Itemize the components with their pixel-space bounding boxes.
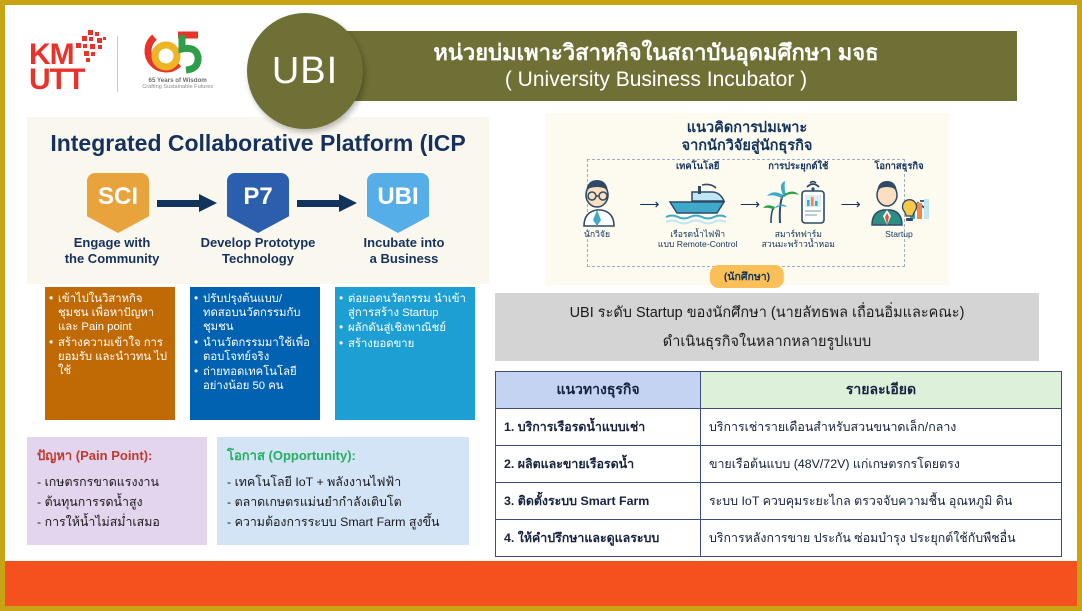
- anniversary-caption-main: 65 Years of Wisdom: [130, 77, 226, 84]
- arrow-right-icon-2: [297, 194, 359, 212]
- detail-bullet: ปรับปรุงต้นแบบ/ทดสอบนวัตกรรมกับชุมชน: [194, 292, 314, 335]
- startup-banner-line-1: UBI ระดับ Startup ของนักศึกษา (นายลัทธพล…: [570, 301, 965, 324]
- detail-bullet: ถ่ายทอดเทคโนโลยีอย่างน้อย 50 คน: [194, 365, 314, 393]
- pain-point-item: - การให้น้ำไม่สม่ำเสมอ: [37, 512, 197, 532]
- header-title-bar: หน่วยบ่มเพาะวิสาหกิจในสถาบันอุดมศึกษา มจ…: [295, 31, 1017, 101]
- smartfarm-icon: [758, 173, 838, 229]
- startup-banner: UBI ระดับ Startup ของนักศึกษา (นายลัทธพล…: [495, 293, 1039, 361]
- table-header-row: แนวทางธุรกิจ รายละเอียด: [496, 372, 1062, 409]
- incubation-flow: นักวิจัย ⟶ เทคโนโลยี เรือรดน้ำไฟฟ้า: [557, 159, 939, 269]
- icp-captions: Engage with the Community Develop Protot…: [27, 235, 489, 267]
- flow-node-application: การประยุกต์ใช้: [758, 159, 838, 249]
- table-cell-detail: ขายเรือต้นแบบ (48V/72V) แก่เกษตรกรโดยตรง: [701, 446, 1062, 483]
- arrow-right-icon-b: ⟶: [740, 199, 756, 209]
- business-model-table: แนวทางธุรกิจ รายละเอียด 1. บริการเรือรดน…: [495, 371, 1062, 557]
- detail-bullet: สร้างยอดขาย: [339, 337, 469, 351]
- incubation-concept-card: แนวคิดการบ่มเพาะ จากนักวิจัยสู่นักธุรกิจ: [545, 113, 949, 285]
- opportunity-item: - ความต้องการระบบ Smart Farm สูงขึ้น: [227, 512, 459, 532]
- opportunity-item: - เทคโนโลยี IoT + พลังงานไฟฟ้า: [227, 472, 459, 492]
- student-badge: (นักศึกษา): [710, 265, 784, 288]
- table-header-approach: แนวทางธุรกิจ: [496, 372, 701, 409]
- icp-card: Integrated Collaborative Platform (ICP S…: [27, 117, 489, 284]
- table-cell-approach: 1. บริการเรือรดน้ำแบบเช่า: [496, 409, 701, 446]
- arrow-right-icon-c: ⟶: [841, 199, 857, 209]
- icp-flow: SCI P7 UBI: [27, 173, 489, 233]
- kmutt-line-2: UTT: [29, 67, 84, 92]
- arrow-right-icon-a: ⟶: [639, 199, 655, 209]
- opportunity-card: โอกาส (Opportunity): - เทคโนโลยี IoT + พ…: [217, 437, 469, 545]
- anniversary-caption: 65 Years of Wisdom Crafting Sustainable …: [130, 77, 226, 92]
- pain-point-item: - เกษตรกรขาดแรงงาน: [37, 472, 197, 492]
- detail-box-prototype: ปรับปรุงต้นแบบ/ทดสอบนวัตกรรมกับชุมชน นำน…: [190, 287, 320, 420]
- table-cell-detail: ระบบ IoT ควบคุมระยะไกล ตรวจจับความชื้น อ…: [701, 483, 1062, 520]
- institution-logo: KM UTT: [29, 23, 219, 105]
- ubi-badge-circle: UBI: [247, 13, 363, 129]
- slide-canvas: KM UTT: [0, 0, 1082, 611]
- opportunity-heading: โอกาส (Opportunity):: [227, 445, 459, 466]
- table-row: 4. ให้คำปรึกษาและดูแลระบบ บริการหลังการข…: [496, 520, 1062, 557]
- logo-divider: [117, 36, 118, 92]
- incubation-concept-title: แนวคิดการบ่มเพาะ จากนักวิจัยสู่นักธุรกิจ: [545, 119, 949, 155]
- table-row: 1. บริการเรือรดน้ำแบบเช่า บริการเช่ารายเ…: [496, 409, 1062, 446]
- arrow-right-icon-1: [157, 194, 219, 212]
- flow-node-label: นักวิจัย: [557, 229, 637, 239]
- icp-caption-sci: Engage with the Community: [39, 235, 185, 267]
- pain-point-item: - ต้นทุนการรดน้ำสูง: [37, 492, 197, 512]
- detail-bullet: เข้าไปในวิสาหกิจชุมชน เพื่อหาปัญหาและ Pa…: [49, 292, 169, 335]
- table-cell-approach: 2. ผลิตและขายเรือรดน้ำ: [496, 446, 701, 483]
- icp-caption-p7: Develop Prototype Technology: [185, 235, 331, 267]
- table-header-details: รายละเอียด: [701, 372, 1062, 409]
- detail-bullet: สร้างความเข้าใจ การยอมรับ และนำวทน ไปใช้: [49, 336, 169, 379]
- icp-badge-sci: SCI: [87, 173, 149, 233]
- icp-title: Integrated Collaborative Platform (ICP: [27, 130, 489, 157]
- table-cell-approach: 3. ติดตั้งระบบ Smart Farm: [496, 483, 701, 520]
- icp-caption-ubi: Incubate into a Business: [331, 235, 477, 267]
- boat-icon: [658, 173, 738, 229]
- icp-badge-ubi: UBI: [367, 173, 429, 233]
- icp-detail-boxes: เข้าไปในวิสาหกิจชุมชน เพื่อหาปัญหาและ Pa…: [45, 287, 475, 420]
- kmutt-pixel-cross-icon: [73, 30, 109, 64]
- pain-point-heading: ปัญหา (Pain Point):: [37, 445, 197, 466]
- kmutt-logo-icon: KM UTT: [29, 28, 109, 100]
- table-row: 2. ผลิตและขายเรือรดน้ำ ขายเรือต้นแบบ (48…: [496, 446, 1062, 483]
- pain-point-card: ปัญหา (Pain Point): - เกษตรกรขาดแรงงาน -…: [27, 437, 207, 545]
- icp-badge-p7: P7: [227, 173, 289, 233]
- detail-box-incubate: ต่อยอดนวัตกรรม นำเข้าสู่การสร้าง Startup…: [335, 287, 475, 420]
- detail-bullet: นำนวัตกรรมมาใช้เพื่อตอบโจทย์จริง: [194, 336, 314, 364]
- businessman-icon: [859, 173, 939, 229]
- anniversary-caption-sub: Crafting Sustainable Futures: [130, 84, 226, 91]
- flow-node-sublabel: สวนมะพร้าวน้ำหอม: [758, 239, 838, 249]
- bottom-accent-band: [5, 561, 1077, 606]
- table-row: 3. ติดตั้งระบบ Smart Farm ระบบ IoT ควบคุ…: [496, 483, 1062, 520]
- flow-node-researcher: นักวิจัย: [557, 159, 637, 239]
- researcher-icon: [557, 173, 637, 229]
- anniversary-65-logo-icon: 65 Years of Wisdom Crafting Sustainable …: [126, 27, 219, 101]
- anniversary-65-mark-icon: [136, 27, 210, 75]
- table-cell-approach: 4. ให้คำปรึกษาและดูแลระบบ: [496, 520, 701, 557]
- table-cell-detail: บริการหลังการขาย ประกัน ซ่อมบำรุง ประยุก…: [701, 520, 1062, 557]
- detail-bullet: ต่อยอดนวัตกรรม นำเข้าสู่การสร้าง Startup: [339, 292, 469, 320]
- flow-node-startup: โอกาสธุรกิจ: [859, 159, 939, 239]
- flow-node-label: เรือรดน้ำไฟฟ้า: [658, 229, 738, 239]
- flow-node-technology: เทคโนโลยี เรือรดน้ำไฟฟ้า แบบ Remote-Cont…: [658, 159, 738, 249]
- flow-node-label: สมาร์ทฟาร์ม: [758, 229, 838, 239]
- flow-node-sublabel: แบบ Remote-Control: [658, 239, 738, 249]
- header-title-thai: หน่วยบ่มเพาะวิสาหกิจในสถาบันอุดมศึกษา มจ…: [433, 39, 878, 67]
- header-title-english: ( University Business Incubator ): [505, 67, 807, 93]
- detail-bullet: ผลักดันสู่เชิงพาณิชย์: [339, 321, 469, 335]
- flow-node-label: Startup: [859, 229, 939, 239]
- table-cell-detail: บริการเช่ารายเดือนสำหรับสวนขนาดเล็ก/กลาง: [701, 409, 1062, 446]
- startup-banner-line-2: ดำเนินธุรกิจในหลากหลายรูปแบบ: [663, 330, 871, 353]
- detail-box-engage: เข้าไปในวิสาหกิจชุมชน เพื่อหาปัญหาและ Pa…: [45, 287, 175, 420]
- opportunity-item: - ตลาดเกษตรแม่นยำกำลังเติบโต: [227, 492, 459, 512]
